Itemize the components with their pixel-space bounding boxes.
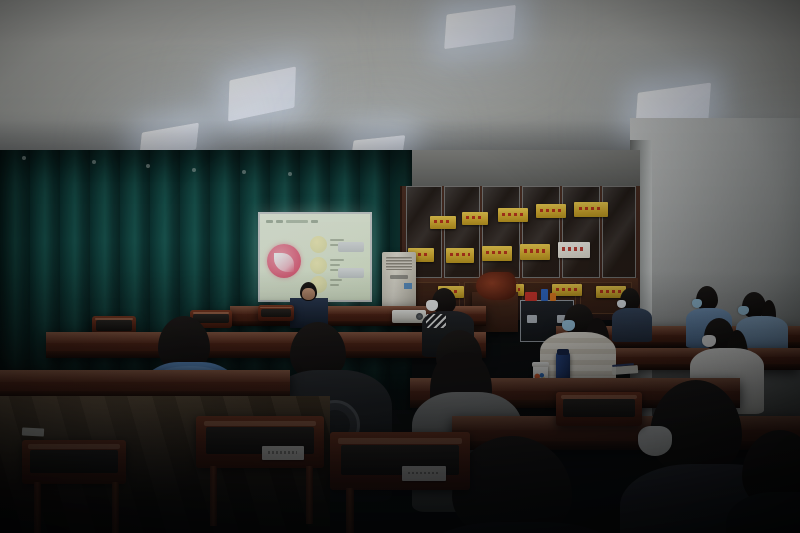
name-card [402, 466, 446, 481]
cabinet-glass-door [444, 186, 480, 278]
projector [392, 310, 426, 323]
face-mask [738, 306, 749, 315]
face-mask [692, 299, 702, 308]
curtain-hook [192, 168, 196, 172]
paper-sheet [22, 427, 44, 436]
award-certificate [558, 242, 590, 258]
slide-box [338, 268, 364, 278]
upper-wall-strip [400, 150, 640, 190]
chair [22, 440, 126, 484]
ceiling-light-3 [444, 5, 516, 49]
slide-text-line [330, 279, 342, 281]
award-plaque [520, 244, 550, 260]
presenter-face [302, 288, 315, 300]
slide-text-line [330, 259, 344, 261]
chair [258, 305, 294, 321]
curtain-hook [288, 172, 292, 176]
award-plaque [446, 248, 474, 263]
ceiling-light-1 [228, 66, 296, 121]
cabinet-glass-door [482, 186, 520, 278]
slide-circle [310, 257, 327, 274]
projector-lens [416, 313, 423, 320]
orange-item [550, 293, 556, 301]
curtain-hook [146, 164, 150, 168]
face-mask [702, 335, 716, 347]
chair-leg [346, 488, 354, 533]
slide-text-line [330, 264, 340, 266]
slide-box [338, 242, 364, 252]
cabinet-glass-door [562, 186, 600, 278]
slide-logo-icon [267, 244, 301, 278]
cabinet-glass-door [522, 186, 560, 278]
curtain-hook [242, 170, 246, 174]
torso [422, 522, 622, 533]
slide-circle [310, 236, 327, 253]
chair-with-namecard [196, 416, 324, 468]
award-plaque [430, 216, 456, 229]
curtain-hook [92, 160, 96, 164]
torso [612, 308, 652, 342]
chair-leg [34, 482, 41, 533]
award-plaque [498, 208, 528, 222]
award-plaque [482, 246, 512, 261]
ac-label [404, 283, 412, 289]
face-mask [617, 300, 626, 308]
chair-leg [210, 466, 217, 526]
ac-vent [386, 257, 412, 270]
chair-leg [112, 482, 119, 533]
presenter-head [300, 282, 317, 301]
cabinet-glass-door [602, 186, 636, 278]
chair [556, 392, 642, 426]
slide-text-line [330, 239, 344, 241]
award-plaque [574, 202, 608, 217]
collar-stripe [426, 314, 446, 328]
meeting-room-photo [0, 0, 800, 533]
blue-item [541, 289, 548, 301]
award-plaque [552, 284, 582, 296]
red-item [525, 292, 537, 301]
ac-brand-logo [390, 275, 408, 279]
case-clasp [527, 315, 537, 323]
face-mask [562, 320, 575, 331]
face-mask [426, 300, 438, 311]
wooden-lion-sculpture [476, 272, 516, 300]
award-plaque [536, 204, 566, 218]
name-card [262, 446, 304, 460]
conference-table [0, 370, 290, 398]
conference-table [46, 332, 486, 358]
slide-text-line [330, 284, 339, 286]
award-plaque [462, 212, 488, 225]
chair-with-namecard [330, 432, 470, 490]
slide-header [266, 220, 318, 223]
curtain-hook [22, 156, 26, 160]
chair-leg [306, 466, 313, 524]
face-mask [638, 426, 672, 456]
